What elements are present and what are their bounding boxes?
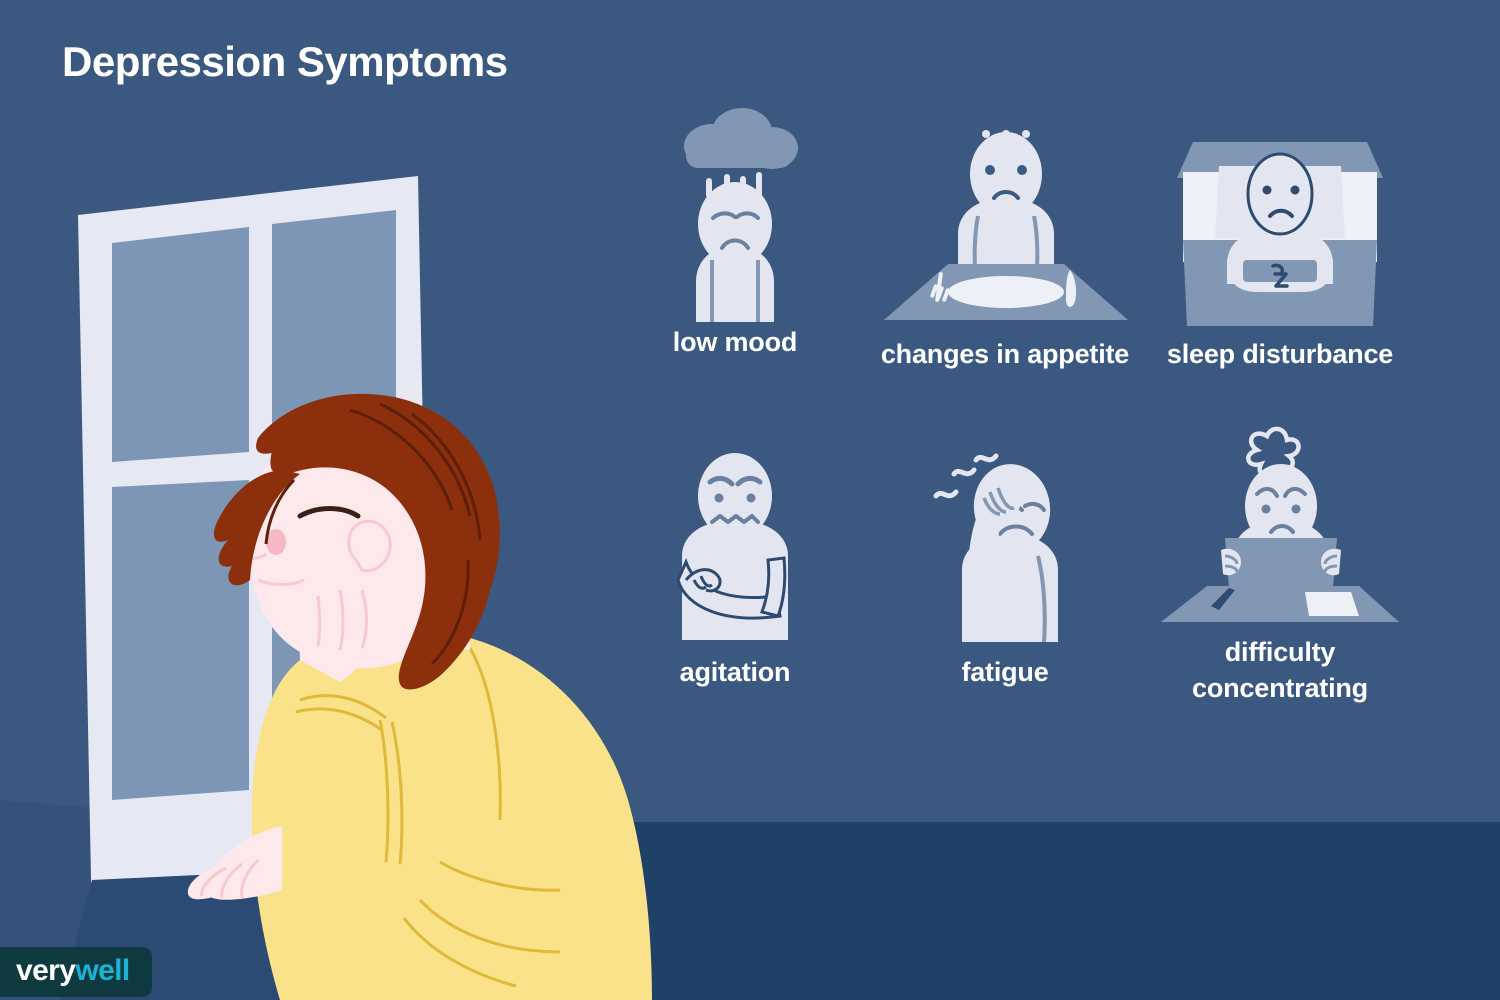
symptom-label: agitation bbox=[600, 655, 870, 691]
symptom-card-low-mood[interactable]: low mood bbox=[600, 100, 870, 361]
symptom-label: fatigue bbox=[870, 655, 1140, 691]
angry-person-arms-crossed-icon bbox=[600, 430, 870, 655]
symptom-label: sleep disturbance bbox=[1145, 337, 1415, 373]
symptom-card-difficulty-concentrating[interactable]: difficulty concentrating bbox=[1145, 410, 1415, 706]
infographic-canvas: Depression Symptoms bbox=[0, 0, 1500, 1000]
logo-text-well: well bbox=[75, 954, 129, 987]
tired-person-hand-on-head-icon bbox=[870, 430, 1140, 655]
symptom-grid: low mood bbox=[600, 100, 1480, 760]
symptom-card-agitation[interactable]: agitation bbox=[600, 430, 870, 691]
person-reading-scribble-icon bbox=[1145, 410, 1415, 635]
person-empty-plate-icon bbox=[870, 112, 1140, 337]
symptom-card-changes-in-appetite[interactable]: changes in appetite bbox=[870, 112, 1140, 373]
logo-text-very: very bbox=[16, 954, 75, 987]
symptom-label: changes in appetite bbox=[870, 337, 1140, 373]
rain-cloud-sad-person-icon bbox=[600, 100, 870, 325]
symptom-label: difficulty concentrating bbox=[1145, 635, 1415, 706]
symptom-card-fatigue[interactable]: fatigue bbox=[870, 430, 1140, 691]
verywell-logo[interactable]: verywell bbox=[0, 947, 152, 997]
symptom-card-sleep-disturbance[interactable]: sleep disturbance bbox=[1145, 112, 1415, 373]
person-awake-in-bed-icon bbox=[1145, 112, 1415, 337]
symptom-label: low mood bbox=[600, 325, 870, 361]
